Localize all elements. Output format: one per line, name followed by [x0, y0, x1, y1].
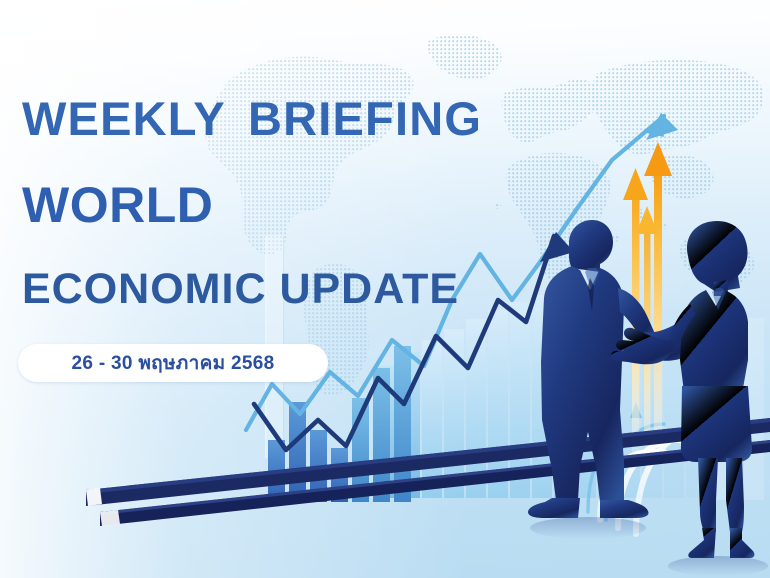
headline-line-3: ECONOMIC UPDATE	[22, 268, 459, 311]
headline-word-briefing: BRIEFING	[248, 92, 482, 145]
date-range-badge: 26 - 30 พฤษภาคม 2568	[18, 344, 328, 382]
businesswoman-reflection	[668, 556, 768, 576]
headline-word-weekly: WEEKLY	[22, 92, 226, 145]
weekly-briefing-banner: WEEKLYBRIEFING WORLD ECONOMIC UPDATE 26 …	[0, 0, 770, 578]
businessman-reflection	[530, 517, 646, 539]
businessman-silhouette	[528, 220, 701, 518]
headline-line-1: WEEKLYBRIEFING	[22, 95, 482, 142]
headline-line-2: WORLD	[22, 180, 213, 230]
date-range-label: 26 - 30 พฤษภาคม 2568	[72, 348, 275, 378]
